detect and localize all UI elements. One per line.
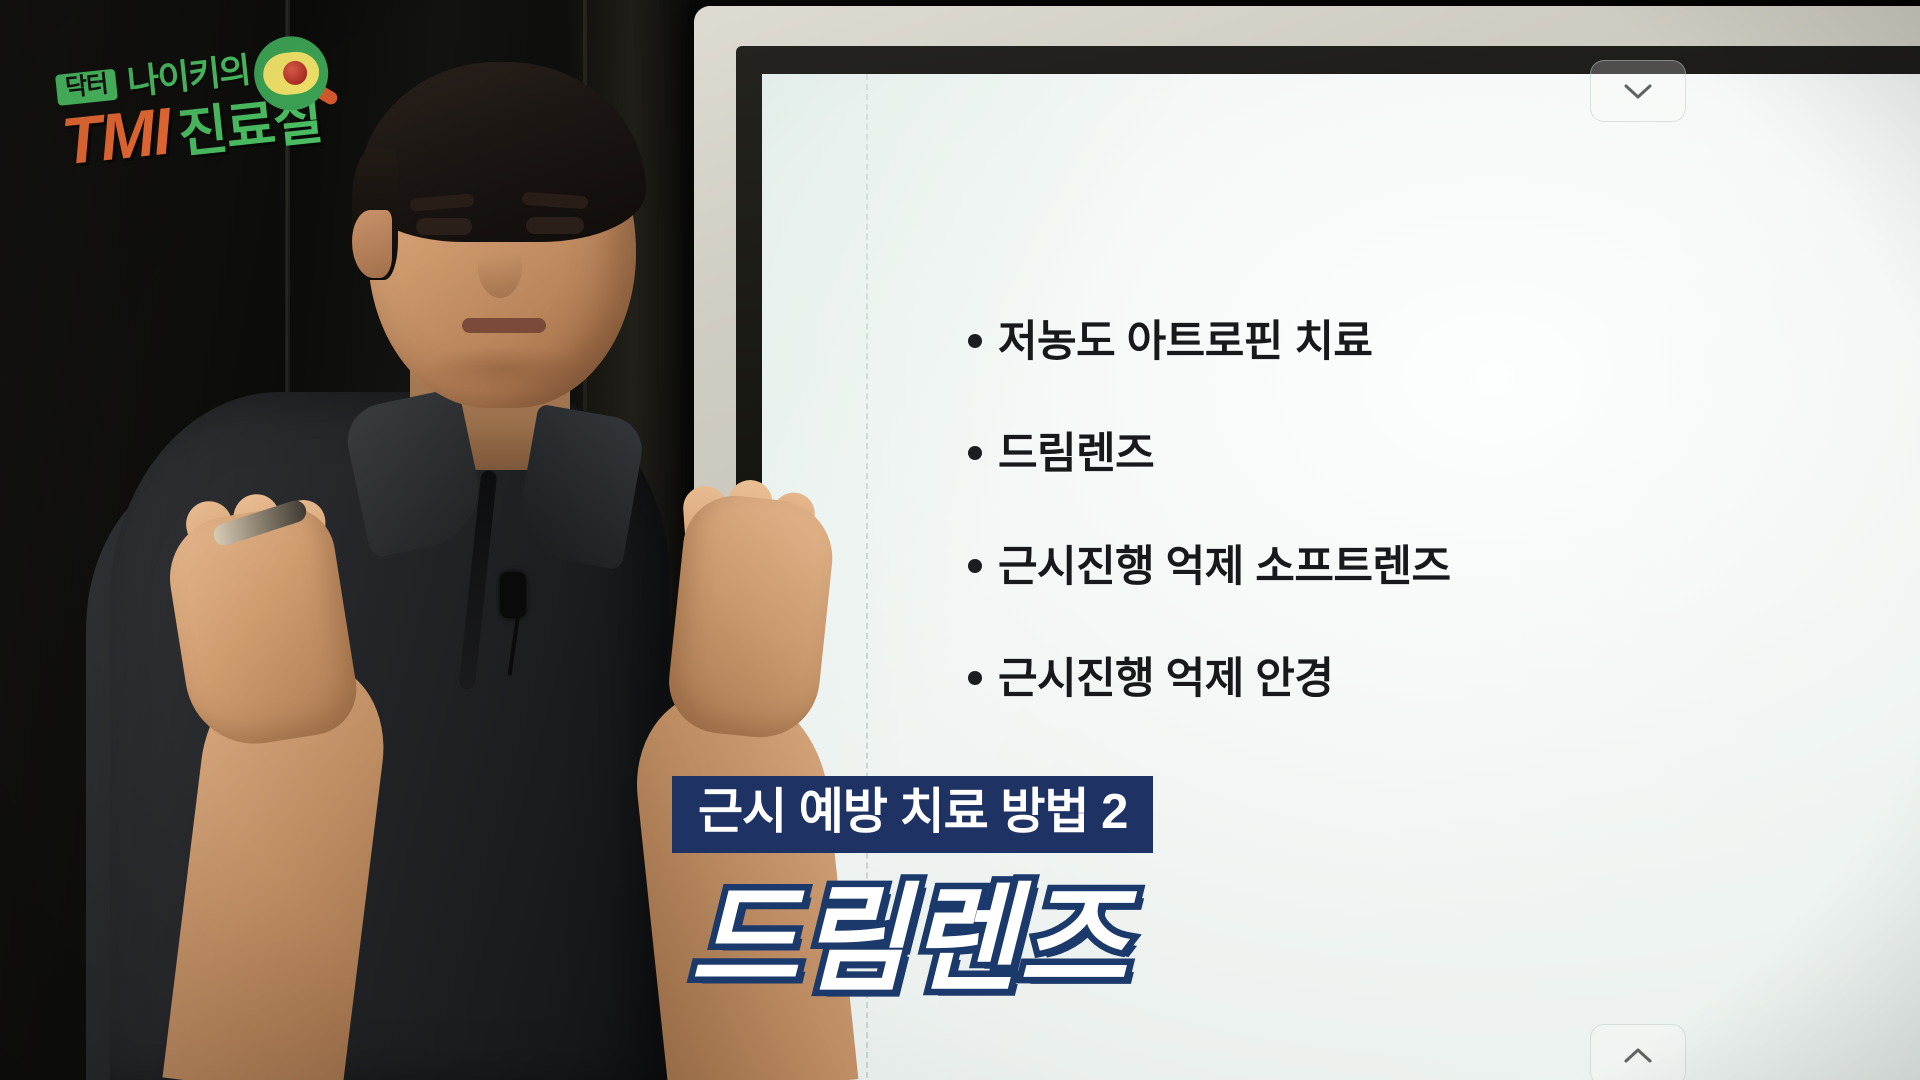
presenter-hand-right xyxy=(664,491,838,743)
presenter-nose xyxy=(478,236,522,298)
bullet-label: 근시진행 억제 안경 xyxy=(998,655,1333,704)
lapel-microphone-icon xyxy=(500,572,526,618)
presenter-ear xyxy=(352,210,392,278)
caption-subtitle-text: 근시 예방 치료 방법 2 xyxy=(698,785,1127,839)
chevron-down-icon xyxy=(1618,78,1658,104)
list-item: 저농도 아트로핀 치료 xyxy=(968,318,1728,367)
caption-subtitle-banner: 근시 예방 치료 방법 2 xyxy=(672,776,1153,853)
video-frame: 저농도 아트로핀 치료 드림렌즈 근시진행 억제 소프트렌즈 근시진행 억제 안… xyxy=(0,0,1920,1080)
bullet-label: 드림렌즈 xyxy=(998,430,1154,479)
slide-scroll-up-button[interactable] xyxy=(1590,1024,1686,1080)
slide-bullet-list: 저농도 아트로핀 치료 드림렌즈 근시진행 억제 소프트렌즈 근시진행 억제 안… xyxy=(968,318,1728,768)
bullet-dot-icon xyxy=(968,559,982,573)
caption-title-text: 드림렌즈 xyxy=(690,874,1128,1006)
logo-tmi-word: TMI xyxy=(59,100,173,174)
chevron-up-icon xyxy=(1618,1042,1658,1068)
eye-magnifier-icon xyxy=(250,33,331,114)
caption-title-block: 드림렌즈 xyxy=(690,880,1128,1000)
list-item: 드림렌즈 xyxy=(968,430,1728,479)
presenter-chin-shadow xyxy=(420,346,590,392)
presenter-mouth xyxy=(462,318,546,333)
list-item: 근시진행 억제 안경 xyxy=(968,655,1728,704)
bullet-dot-icon xyxy=(968,334,982,348)
presenter-hair xyxy=(358,62,646,242)
bullet-dot-icon xyxy=(968,671,982,685)
bullet-label: 근시진행 억제 소프트렌즈 xyxy=(998,543,1451,592)
presenter-eye-right xyxy=(526,217,584,234)
slide-scroll-down-button[interactable] xyxy=(1590,60,1686,122)
bullet-dot-icon xyxy=(968,446,982,460)
list-item: 근시진행 억제 소프트렌즈 xyxy=(968,543,1728,592)
presenter-eye-left xyxy=(416,218,472,235)
bullet-label: 저농도 아트로핀 치료 xyxy=(998,318,1372,367)
